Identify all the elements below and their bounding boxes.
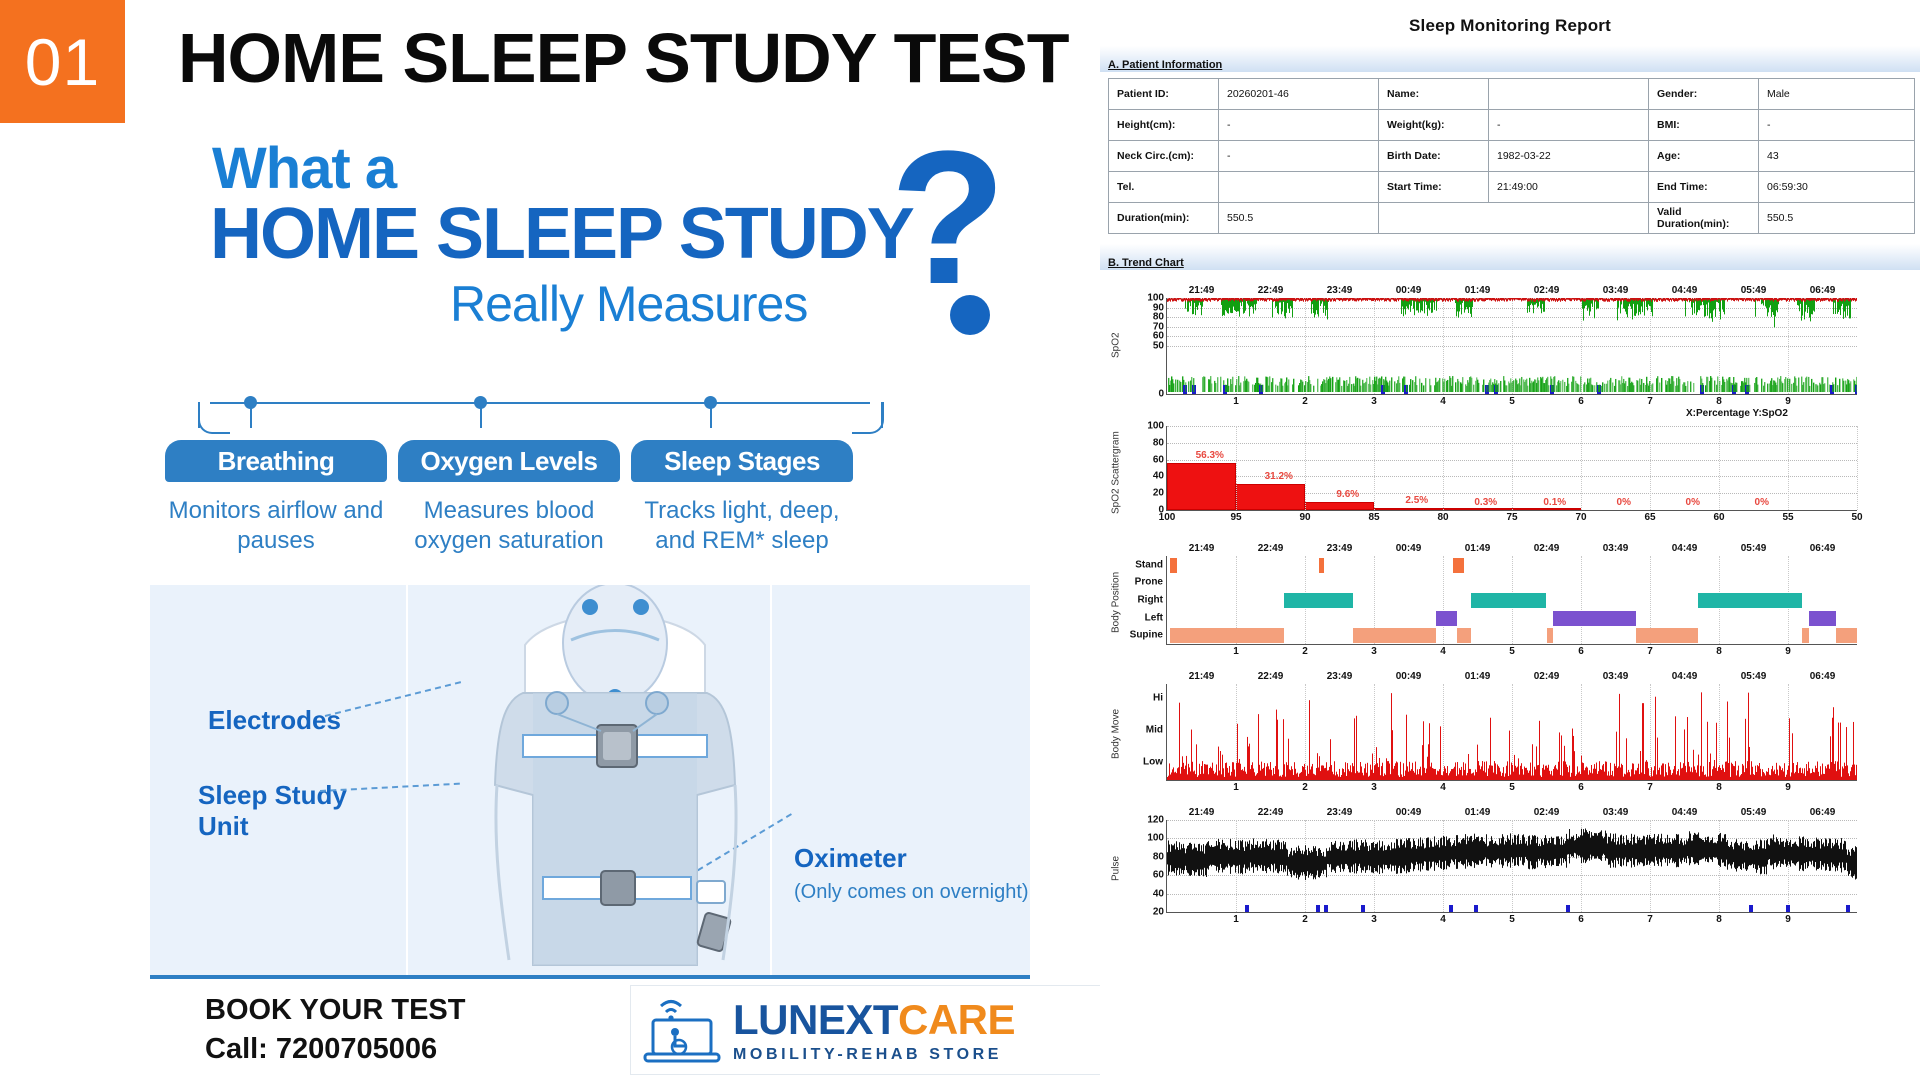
scattergram-bar	[1236, 484, 1305, 510]
table-row: Height(cm):-Weight(kg):-BMI:-	[1109, 110, 1915, 141]
x-tick: 8	[1716, 782, 1722, 793]
x-tick: 2	[1302, 914, 1308, 925]
scattergram-x-tick: 75	[1506, 512, 1517, 523]
scattergram-value-label: 0%	[1617, 497, 1631, 508]
table-cell-label	[1379, 203, 1649, 234]
scattergram-x-tick: 65	[1644, 512, 1655, 523]
table-cell-value: -	[1489, 110, 1649, 141]
grid-line	[1443, 556, 1444, 644]
time-tick: 06:49	[1810, 285, 1836, 296]
time-tick: 02:49	[1534, 807, 1560, 818]
time-tick: 02:49	[1534, 285, 1560, 296]
headline-line-1: What a	[212, 135, 396, 202]
time-tick: 02:49	[1534, 671, 1560, 682]
body-position-segment	[1802, 628, 1809, 643]
brand-care: CARE	[898, 996, 1015, 1043]
time-tick: 23:49	[1327, 671, 1353, 682]
body-position-segment	[1457, 628, 1471, 643]
scattergram-x-tick: 55	[1782, 512, 1793, 523]
scattergram-value-label: 0.3%	[1474, 497, 1497, 508]
scattergram-value-label: 56.3%	[1196, 450, 1224, 461]
feature-card-oxygen: Oxygen Levels Measures blood oxygen satu…	[398, 440, 620, 556]
grid-line	[1581, 426, 1582, 510]
table-cell-value: 550.5	[1759, 203, 1915, 234]
device-placement-diagram: Electrodes Sleep Study Unit Oximeter (On…	[150, 585, 1030, 975]
scattergram-x-tick: 95	[1230, 512, 1241, 523]
grid-line	[1512, 426, 1513, 510]
time-tick: 01:49	[1465, 285, 1491, 296]
cta-text: BOOK YOUR TEST Call: 7200705006	[205, 991, 466, 1069]
scattergram-value-label: 31.2%	[1265, 471, 1293, 482]
diagram-label-oximeter: Oximeter (Only comes on overnight)	[794, 843, 1029, 905]
x-tick: 5	[1509, 396, 1515, 407]
table-cell-label: Height(cm):	[1109, 110, 1219, 141]
time-tick: 05:49	[1741, 285, 1767, 296]
table-cell-label: Gender:	[1649, 79, 1759, 110]
body-position-segment	[1471, 593, 1547, 608]
x-tick: 9	[1785, 646, 1791, 657]
time-tick: 21:49	[1189, 671, 1215, 682]
body-move-y-tick: Low	[1143, 757, 1163, 768]
table-cell-value: -	[1219, 110, 1379, 141]
time-tick: 06:49	[1810, 807, 1836, 818]
headline-line-2: HOME SLEEP STUDY	[210, 193, 913, 275]
y-tick: 20	[1153, 907, 1164, 918]
body-position-y-tick: Right	[1137, 595, 1163, 606]
pulse-waveform	[1167, 820, 1857, 912]
table-row: Patient ID:20260201-46Name:Gender:Male	[1109, 79, 1915, 110]
x-tick: 4	[1440, 782, 1446, 793]
time-tick: 03:49	[1603, 807, 1629, 818]
x-tick: 1	[1233, 914, 1239, 925]
axis-label-spo2-scattergram: SpO2 Scattergram	[1108, 408, 1124, 538]
scattergram-value-label: 0.1%	[1543, 497, 1566, 508]
connector-stem-5	[881, 402, 883, 428]
scattergram-bar	[1167, 463, 1236, 510]
slide-number-badge: 01	[0, 0, 125, 123]
question-mark-icon: ?	[890, 123, 1006, 313]
x-tick: 5	[1509, 782, 1515, 793]
y-tick: 0	[1158, 389, 1164, 400]
table-cell-value	[1219, 172, 1379, 203]
x-tick: 9	[1785, 782, 1791, 793]
brand-wordmark: LUNEXTCARE MOBILITY-REHAB STORE	[733, 996, 1015, 1064]
time-tick: 00:49	[1396, 671, 1422, 682]
report-title: Sleep Monitoring Report	[1100, 0, 1920, 36]
grid-line	[1650, 426, 1651, 510]
time-tick: 05:49	[1741, 807, 1767, 818]
table-cell-label: Birth Date:	[1379, 141, 1489, 172]
y-tick: 100	[1147, 421, 1164, 432]
y-tick: 80	[1153, 437, 1164, 448]
feature-desc-oxygen: Measures blood oxygen saturation	[398, 496, 620, 556]
time-tick: 06:49	[1810, 543, 1836, 554]
time-tick: 00:49	[1396, 807, 1422, 818]
body-move-y-tick: Hi	[1153, 693, 1163, 704]
table-cell-label: BMI:	[1649, 110, 1759, 141]
table-row: Tel.Start Time:21:49:00End Time:06:59:30	[1109, 172, 1915, 203]
headline-line-3: Really Measures	[450, 275, 807, 333]
x-tick: 7	[1647, 396, 1653, 407]
x-tick: 6	[1578, 646, 1584, 657]
scattergram-x-tick: 90	[1299, 512, 1310, 523]
scattergram-value-label: 2.5%	[1405, 495, 1428, 506]
headline-dot-icon	[950, 295, 990, 335]
scattergram-bar	[1443, 508, 1512, 510]
x-tick: 3	[1371, 782, 1377, 793]
table-cell-value: -	[1759, 110, 1915, 141]
y-tick: 40	[1153, 471, 1164, 482]
table-cell-label: Age:	[1649, 141, 1759, 172]
body-position-segment	[1353, 628, 1436, 643]
time-tick: 21:49	[1189, 285, 1215, 296]
page-title: HOME SLEEP STUDY TEST	[178, 18, 1068, 98]
laptop-wheelchair-icon	[639, 992, 727, 1068]
cta-line-1: BOOK YOUR TEST	[205, 991, 466, 1030]
time-tick: 22:49	[1258, 543, 1284, 554]
x-tick: 3	[1371, 914, 1377, 925]
x-tick: 3	[1371, 646, 1377, 657]
time-tick: 01:49	[1465, 543, 1491, 554]
time-tick: 01:49	[1465, 671, 1491, 682]
plot-area: 0506070809010021:4922:4923:4900:4901:490…	[1166, 298, 1857, 395]
axis-label-body-move: Body Move	[1108, 666, 1124, 802]
grid-line	[1581, 556, 1582, 644]
body-position-segment	[1698, 593, 1802, 608]
body-position-segment	[1170, 628, 1284, 643]
x-tick: 4	[1440, 396, 1446, 407]
time-tick: 03:49	[1603, 671, 1629, 682]
connector-arc-right	[852, 402, 884, 434]
scattergram-x-tick: 70	[1575, 512, 1586, 523]
scattergram-x-tick: 60	[1713, 512, 1724, 523]
table-cell-value: 43	[1759, 141, 1915, 172]
table-cell-value: 21:49:00	[1489, 172, 1649, 203]
connector-stem-1	[198, 402, 200, 428]
connector-line	[210, 402, 870, 404]
grid-line	[1788, 426, 1789, 510]
table-cell-value	[1489, 79, 1649, 110]
patient-information-table: Patient ID:20260201-46Name:Gender:MaleHe…	[1108, 78, 1915, 234]
x-tick: 1	[1233, 782, 1239, 793]
table-row: Neck Circ.(cm):-Birth Date:1982-03-22Age…	[1109, 141, 1915, 172]
table-cell-label: Valid Duration(min):	[1649, 203, 1759, 234]
feature-card-stages: Sleep Stages Tracks light, deep, and REM…	[631, 440, 853, 556]
section-header-trend-chart: B. Trend Chart	[1100, 244, 1920, 270]
x-tick: 2	[1302, 782, 1308, 793]
table-cell-value: -	[1219, 141, 1379, 172]
y-tick: 100	[1147, 293, 1164, 304]
table-cell-value: 550.5	[1219, 203, 1379, 234]
connector-stem-3	[480, 402, 482, 428]
y-tick: 100	[1147, 833, 1164, 844]
x-tick: 6	[1578, 914, 1584, 925]
connector-stem-4	[710, 402, 712, 428]
table-cell-value: Male	[1759, 79, 1915, 110]
slide-footer: BOOK YOUR TEST Call: 7200705006 LUNEXT	[150, 985, 1030, 1075]
x-tick: 7	[1647, 646, 1653, 657]
section-header-patient-information: A. Patient Information	[1100, 46, 1920, 72]
y-tick: 80	[1153, 851, 1164, 862]
y-tick: 120	[1147, 815, 1164, 826]
slide-left-panel: 01 HOME SLEEP STUDY TEST What a HOME SLE…	[0, 0, 1080, 1080]
trend-charts: SpO20506070809010021:4922:4923:4900:4901…	[1100, 282, 1920, 934]
scattergram-x-tick: 50	[1851, 512, 1862, 523]
body-position-y-tick: Left	[1145, 612, 1163, 623]
spo2-waveform	[1167, 298, 1857, 394]
headline-graphic: What a HOME SLEEP STUDY Really Measures …	[150, 135, 990, 305]
diagram-underline	[150, 975, 1030, 979]
body-position-segment	[1436, 611, 1457, 626]
table-cell-label: End Time:	[1649, 172, 1759, 203]
y-tick: 20	[1153, 488, 1164, 499]
body-position-segment	[1547, 628, 1554, 643]
table-cell-label: Name:	[1379, 79, 1489, 110]
x-tick: 6	[1578, 396, 1584, 407]
time-tick: 02:49	[1534, 543, 1560, 554]
scattergram-value-label: 0%	[1686, 497, 1700, 508]
plot-area: StandProneRightLeftSupine21:4922:4923:49…	[1166, 556, 1857, 645]
body-position-y-tick: Prone	[1135, 577, 1163, 588]
grid-line	[1443, 426, 1444, 510]
grid-line	[1719, 426, 1720, 510]
time-tick: 22:49	[1258, 671, 1284, 682]
body-position-y-tick: Stand	[1135, 559, 1163, 570]
time-tick: 21:49	[1189, 543, 1215, 554]
time-tick: 22:49	[1258, 285, 1284, 296]
feature-label-oxygen: Oxygen Levels	[398, 440, 620, 482]
sleep-monitoring-report: Sleep Monitoring Report A. Patient Infor…	[1100, 0, 1920, 1080]
section-a-label: A. Patient Information	[1108, 59, 1222, 71]
scattergram-x-tick: 80	[1437, 512, 1448, 523]
brand-next: NEXT	[788, 996, 898, 1043]
time-tick: 03:49	[1603, 543, 1629, 554]
scattergram-value-label: 0%	[1755, 497, 1769, 508]
time-tick: 21:49	[1189, 807, 1215, 818]
x-tick: 5	[1509, 646, 1515, 657]
body-position-segment	[1170, 558, 1177, 573]
feature-desc-breathing: Monitors airflow and pauses	[165, 496, 387, 556]
y-tick: 70	[1153, 321, 1164, 332]
scattergram-x-tick: 85	[1368, 512, 1379, 523]
plot-area: HiMidLow21:4922:4923:4900:4901:4902:4903…	[1166, 684, 1857, 781]
scattergram-x-tick: 100	[1159, 512, 1176, 523]
body-position-segment	[1636, 628, 1698, 643]
table-cell-label: Tel.	[1109, 172, 1219, 203]
y-tick: 80	[1153, 312, 1164, 323]
scattergram-bar	[1374, 508, 1443, 510]
table-cell-label: Start Time:	[1379, 172, 1489, 203]
y-tick: 90	[1153, 302, 1164, 313]
scattergram-bar	[1305, 502, 1374, 510]
body-position-y-tick: Supine	[1130, 630, 1163, 641]
feature-card-breathing: Breathing Patterns Monitors airflow and …	[165, 440, 387, 556]
grid-line	[1857, 426, 1858, 510]
diagram-label-electrodes: Electrodes	[208, 705, 341, 736]
body-position-segment	[1553, 611, 1636, 626]
grid-line	[1236, 426, 1237, 510]
time-tick: 23:49	[1327, 285, 1353, 296]
time-tick: 23:49	[1327, 543, 1353, 554]
table-cell-label: Patient ID:	[1109, 79, 1219, 110]
time-tick: 23:49	[1327, 807, 1353, 818]
section-b-label: B. Trend Chart	[1108, 257, 1184, 269]
x-tick: 5	[1509, 914, 1515, 925]
body-move-waveform	[1167, 684, 1857, 780]
brand-logo[interactable]: LUNEXTCARE MOBILITY-REHAB STORE	[630, 985, 1142, 1075]
time-tick: 00:49	[1396, 543, 1422, 554]
axis-label-body-position: Body Position	[1108, 538, 1124, 666]
plot-area: 2040608010012021:4922:4923:4900:4901:490…	[1166, 820, 1857, 913]
table-row: Duration(min):550.5Valid Duration(min):5…	[1109, 203, 1915, 234]
connector-stem-2	[250, 402, 252, 428]
grid-line	[1305, 426, 1306, 510]
grid-line	[1374, 426, 1375, 510]
time-tick: 04:49	[1672, 543, 1698, 554]
brand-lun: LU	[733, 996, 788, 1043]
x-tick: 4	[1440, 646, 1446, 657]
table-cell-value: 20260201-46	[1219, 79, 1379, 110]
time-tick: 04:49	[1672, 285, 1698, 296]
x-tick: 8	[1716, 914, 1722, 925]
plot-area: 02040608010056.3%31.2%9.6%2.5%0.3%0.1%0%…	[1166, 426, 1857, 511]
body-position-segment	[1319, 558, 1325, 573]
time-tick: 04:49	[1672, 807, 1698, 818]
x-tick: 1	[1233, 396, 1239, 407]
x-tick: 8	[1716, 646, 1722, 657]
scattergram-value-label: 9.6%	[1336, 489, 1359, 500]
time-tick: 03:49	[1603, 285, 1629, 296]
x-tick: 2	[1302, 646, 1308, 657]
body-move-y-tick: Mid	[1146, 725, 1163, 736]
y-tick: 50	[1153, 341, 1164, 352]
time-tick: 04:49	[1672, 671, 1698, 682]
feature-label-breathing: Breathing Patterns	[165, 440, 387, 482]
table-cell-value: 1982-03-22	[1489, 141, 1649, 172]
axis-label-spo2: SpO2	[1108, 282, 1124, 408]
time-tick: 00:49	[1396, 285, 1422, 296]
x-tick: 9	[1785, 396, 1791, 407]
brand-tagline: MOBILITY-REHAB STORE	[733, 1046, 1015, 1064]
body-position-segment	[1836, 628, 1857, 643]
time-tick: 06:49	[1810, 671, 1836, 682]
feature-label-stages: Sleep Stages	[631, 440, 853, 482]
connector-arc-left	[198, 402, 230, 434]
y-tick: 60	[1153, 331, 1164, 342]
body-position-segment	[1453, 558, 1463, 573]
time-tick: 22:49	[1258, 807, 1284, 818]
scattergram-axis-note: X:Percentage Y:SpO2	[1686, 408, 1788, 419]
x-tick: 9	[1785, 914, 1791, 925]
patient-figure-illustration	[405, 585, 825, 975]
table-cell-label: Duration(min):	[1109, 203, 1219, 234]
connector-graphic	[180, 370, 900, 430]
y-tick: 60	[1153, 454, 1164, 465]
x-tick: 3	[1371, 396, 1377, 407]
table-cell-value: 06:59:30	[1759, 172, 1915, 203]
x-tick: 1	[1233, 646, 1239, 657]
x-tick: 2	[1302, 396, 1308, 407]
x-tick: 6	[1578, 782, 1584, 793]
y-tick: 60	[1153, 870, 1164, 881]
x-tick: 7	[1647, 914, 1653, 925]
table-cell-label: Neck Circ.(cm):	[1109, 141, 1219, 172]
table-cell-label: Weight(kg):	[1379, 110, 1489, 141]
time-tick: 01:49	[1465, 807, 1491, 818]
x-tick: 8	[1716, 396, 1722, 407]
x-tick: 7	[1647, 782, 1653, 793]
time-tick: 05:49	[1741, 543, 1767, 554]
time-tick: 05:49	[1741, 671, 1767, 682]
axis-label-pulse: Pulse	[1108, 802, 1124, 934]
scattergram-bar	[1512, 508, 1581, 510]
body-position-segment	[1284, 593, 1353, 608]
body-position-segment	[1809, 611, 1837, 626]
x-tick: 4	[1440, 914, 1446, 925]
cta-line-2: Call: 7200705006	[205, 1030, 466, 1069]
y-tick: 40	[1153, 888, 1164, 899]
feature-desc-stages: Tracks light, deep, and REM* sleep	[631, 496, 853, 556]
